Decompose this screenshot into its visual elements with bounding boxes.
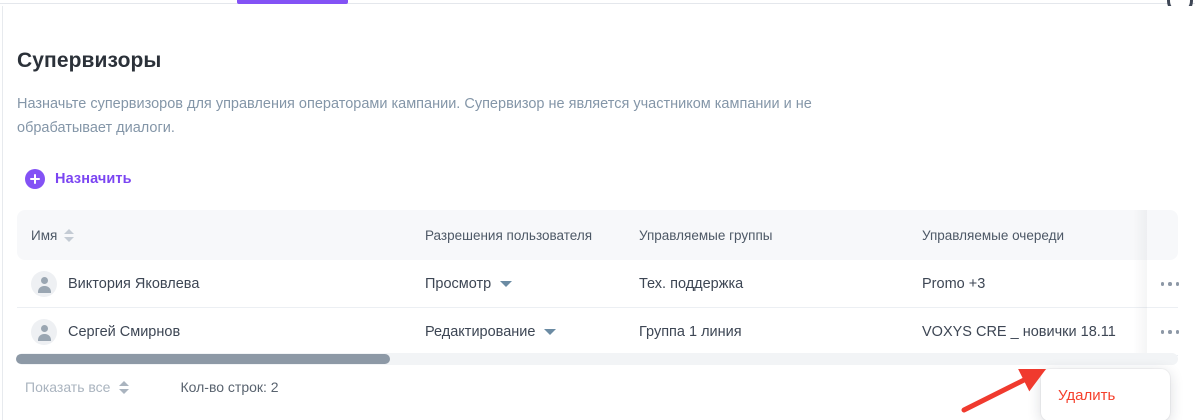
active-tab-underline[interactable] [237,0,348,4]
column-header-name[interactable]: Имя [31,210,74,260]
cell-name-text: Сергей Смирнов [68,324,180,340]
row-context-menu[interactable]: Удалить [1041,369,1170,420]
cell-name: Виктория Яковлева [31,260,199,308]
column-header-queues[interactable]: Управляемые очереди [922,210,1064,260]
avatar [31,271,57,297]
cell-queues: VOXYS CRE _ новички 18.11 [922,308,1116,356]
cell-groups: Группа 1 линия [639,308,742,356]
stepper-icon[interactable] [119,381,129,394]
cell-permission-text: Просмотр [425,276,491,292]
cell-groups: Тех. поддержка [639,260,743,308]
column-header-permissions[interactable]: Разрешения пользователя [425,210,592,260]
page-description: Назначьте супервизоров для управления оп… [17,92,837,140]
cell-permission[interactable]: Редактирование [425,308,556,356]
row-actions-button[interactable] [1150,308,1190,356]
horizontal-scrollbar-thumb[interactable] [16,354,390,364]
table-footer: Показать все Кол-во строк: 2 [25,379,279,395]
page-frame: Супервизоры Назначьте супервизоров для у… [2,6,1193,420]
cell-permission-text: Редактирование [425,324,535,340]
screen-root: Супервизоры Назначьте супервизоров для у… [0,0,1195,420]
sort-arrows-icon[interactable] [64,229,74,242]
avatar [31,319,57,345]
supervisors-table: Имя Разрешения пользователя Управляемые … [17,210,1178,360]
page-title: Супервизоры [17,49,161,73]
cell-permission[interactable]: Просмотр [425,260,512,308]
assign-supervisor-button[interactable]: Назначить [25,166,132,192]
chevron-down-icon[interactable] [500,281,512,287]
chevron-down-icon[interactable] [544,329,556,335]
cell-queues: Promo +3 [922,260,985,308]
column-header-queues-label: Управляемые очереди [922,228,1064,243]
more-horizontal-icon [1161,282,1180,286]
cell-name: Сергей Смирнов [31,308,180,356]
show-all-selector[interactable]: Показать все [25,379,129,395]
column-header-permissions-label: Разрешения пользователя [425,228,592,243]
table-row[interactable]: Виктория Яковлева Просмотр Тех. поддержк… [17,260,1178,308]
delete-menu-item[interactable]: Удалить [1058,387,1115,404]
table-row[interactable]: Сергей Смирнов Редактирование Группа 1 л… [17,308,1178,356]
show-all-label: Показать все [25,379,110,395]
plus-circle-icon [25,169,45,189]
more-horizontal-icon [1161,330,1180,334]
tab-strip-divider [0,3,1195,4]
row-count-label: Кол-во строк: 2 [180,379,278,395]
table-header-row: Имя Разрешения пользователя Управляемые … [17,210,1178,260]
row-actions-button[interactable] [1150,260,1190,308]
column-header-groups[interactable]: Управляемые группы [639,210,772,260]
assign-button-label: Назначить [55,171,132,187]
column-header-name-label: Имя [31,228,57,243]
cell-name-text: Виктория Яковлева [68,276,199,292]
column-header-groups-label: Управляемые группы [639,228,772,243]
